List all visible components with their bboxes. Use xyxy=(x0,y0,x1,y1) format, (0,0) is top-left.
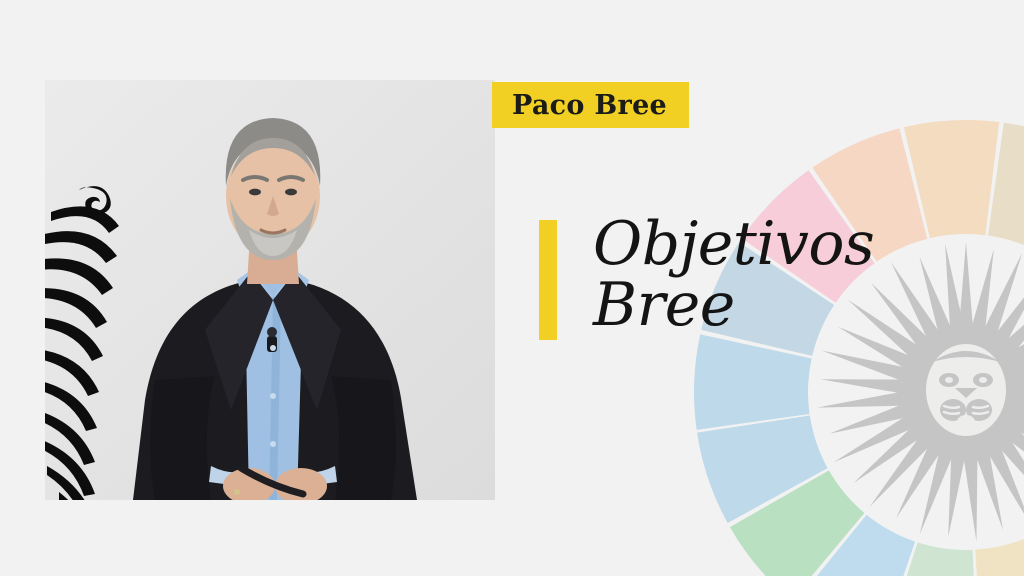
sdg-color-wheel xyxy=(686,112,1024,576)
speaker-name-label: Paco Bree xyxy=(512,92,667,119)
subject-sleeve-right xyxy=(331,376,396,500)
wheel-segment-15 xyxy=(789,502,918,576)
wheel-segment-12 xyxy=(1004,497,1024,576)
wheel-segments xyxy=(686,112,1024,576)
wheel-segment-5 xyxy=(904,112,1024,248)
wheel-segment-6 xyxy=(987,123,1024,259)
speaker-photo xyxy=(45,80,495,500)
wheel-segment-16 xyxy=(719,445,871,576)
title-accent-bar xyxy=(539,220,557,340)
subject-sleeve-left xyxy=(150,376,215,500)
wheel-segment-17 xyxy=(686,381,836,523)
wheel-segment-14 xyxy=(878,540,977,576)
page-title: Objetivos Bree xyxy=(593,214,874,336)
title-block: Objetivos Bree xyxy=(539,214,874,340)
slide-canvas: Paco Bree Objetivos Bree xyxy=(0,0,1024,576)
wheel-segment-13 xyxy=(939,528,1024,576)
speaker-name-badge: Paco Bree xyxy=(492,82,689,128)
